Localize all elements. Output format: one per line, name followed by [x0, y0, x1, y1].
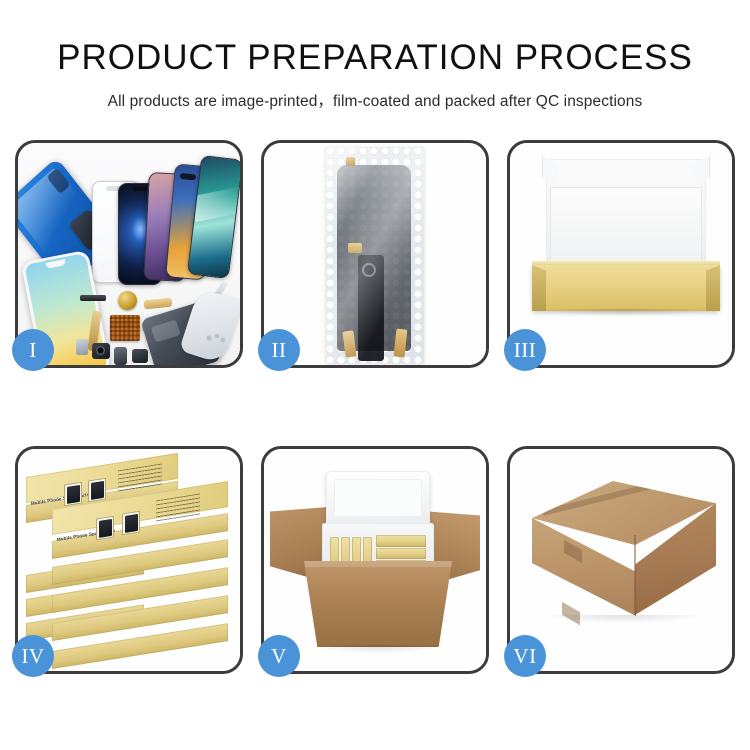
box-stack-item	[52, 639, 228, 669]
small-part-1	[114, 347, 127, 365]
tape-piece-top	[346, 157, 355, 166]
process-step-card-1[interactable]: I	[15, 140, 243, 368]
box-window-right	[88, 478, 106, 503]
drop-shadow	[536, 309, 716, 316]
carton-edge-seam	[634, 535, 636, 615]
carton-body	[304, 561, 452, 647]
phone-notch	[133, 187, 147, 191]
step-badge-4: IV	[12, 635, 54, 677]
page-subtitle: All products are image-printed，film-coat…	[0, 77, 750, 111]
page-title: PRODUCT PREPARATION PROCESS	[0, 0, 750, 77]
phone-camera-pill	[180, 173, 196, 180]
process-step-card-2[interactable]: II	[261, 140, 489, 368]
step-badge-5: V	[258, 635, 300, 677]
process-step-card-6[interactable]: VI	[507, 446, 735, 674]
speaker-strip-part	[80, 295, 106, 301]
step-4-image: Mobile Phone Spare Parts Mobile Phone Sp…	[18, 449, 240, 671]
drop-shadow	[312, 645, 444, 653]
step-badge-3: III	[504, 329, 546, 371]
bubble-wrap-bag	[326, 147, 424, 363]
foam-sheet	[550, 187, 702, 269]
process-step-card-5[interactable]: V	[261, 446, 489, 674]
camera-module-part	[92, 343, 110, 359]
process-step-card-3[interactable]: III	[507, 140, 735, 368]
step-3-image	[510, 143, 732, 365]
process-step-card-4[interactable]: Mobile Phone Spare Parts Mobile Phone Sp…	[15, 446, 243, 674]
yellow-box	[376, 548, 426, 559]
yellow-box	[376, 535, 426, 547]
step-5-image	[264, 449, 486, 671]
screws-group	[206, 333, 226, 343]
box-tray-body	[532, 265, 720, 311]
step-6-image	[510, 449, 732, 671]
vibration-motor-part	[118, 291, 137, 310]
step-badge-6: VI	[504, 635, 546, 677]
tape-piece-middle	[348, 243, 362, 253]
step-1-image	[18, 143, 240, 365]
box-window-left	[96, 516, 114, 541]
foam-box-lid	[326, 471, 430, 531]
step-badge-1: I	[12, 329, 54, 371]
phone-notch	[45, 259, 66, 269]
box-window-right	[122, 511, 140, 536]
small-part-5	[76, 339, 88, 355]
box-window-left	[64, 482, 82, 507]
copper-shield-part	[110, 315, 140, 341]
process-step-grid: I II III	[15, 140, 735, 674]
header: PRODUCT PREPARATION PROCESS All products…	[0, 0, 750, 111]
small-part-2	[132, 349, 148, 363]
step-2-image	[264, 143, 486, 365]
step-badge-2: II	[258, 329, 300, 371]
drop-shadow	[544, 615, 704, 623]
wrapped-flex-assembly	[358, 255, 384, 361]
